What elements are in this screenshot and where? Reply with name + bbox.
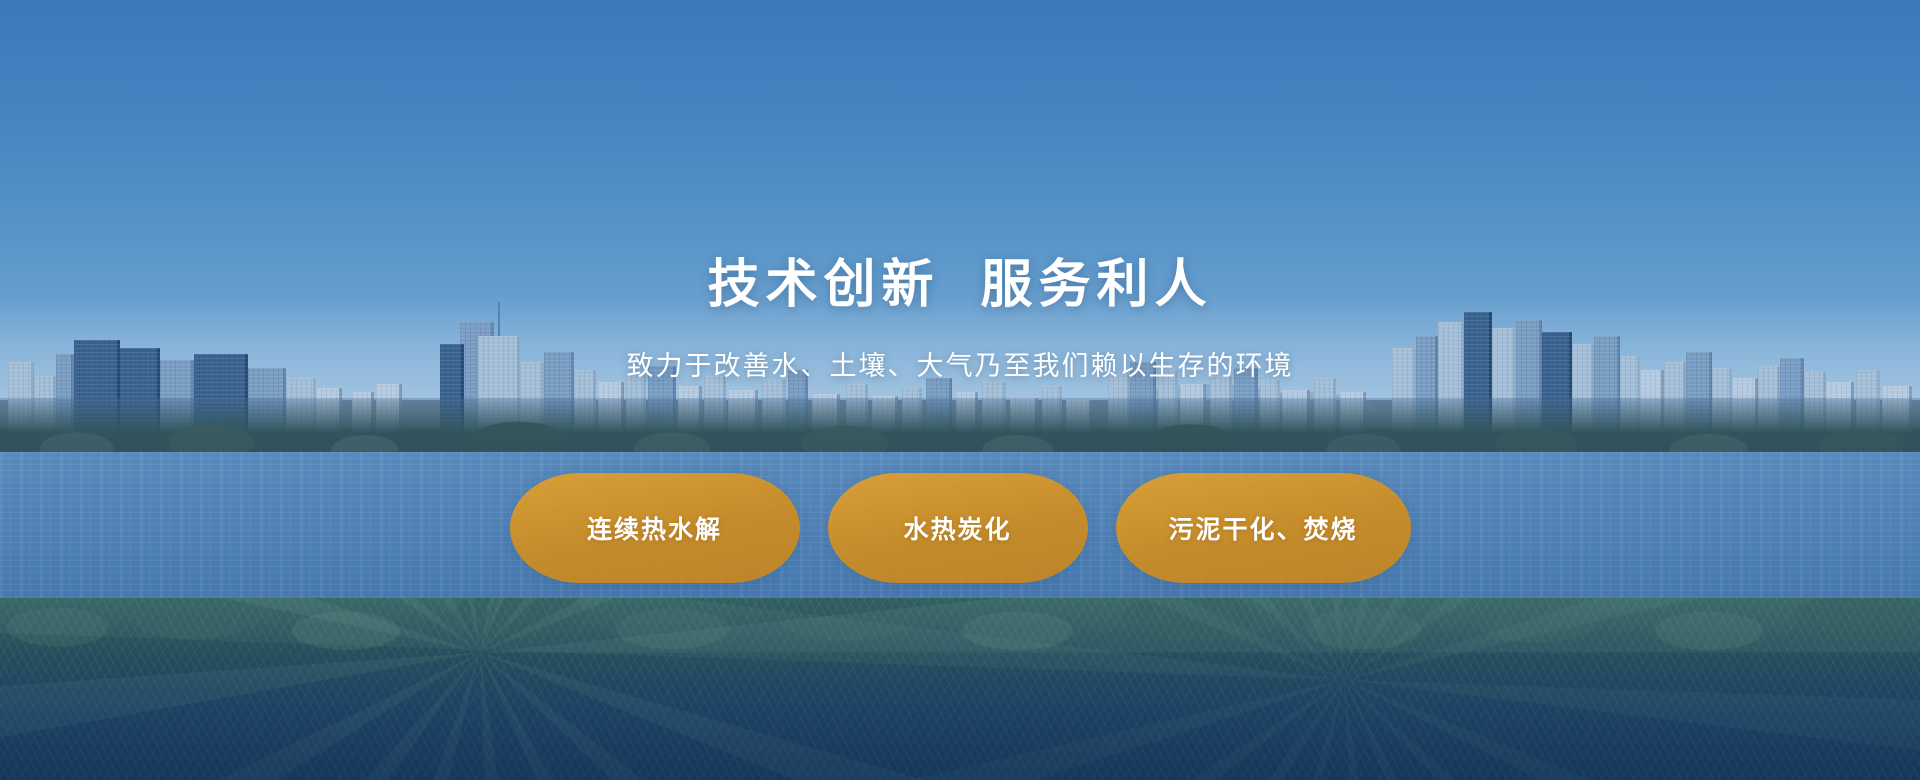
- cta-button-hydrothermal-carbonization[interactable]: 水热炭化: [828, 473, 1088, 583]
- hero-banner: 技术创新 服务利人 致力于改善水、土壤、大气乃至我们赖以生存的环境 连续热水解 …: [0, 0, 1920, 780]
- hero-content: 技术创新 服务利人 致力于改善水、土壤、大气乃至我们赖以生存的环境 连续热水解 …: [0, 0, 1920, 780]
- cta-button-sludge-drying-incineration[interactable]: 污泥干化、焚烧: [1116, 473, 1411, 583]
- page-subtitle: 致力于改善水、土壤、大气乃至我们赖以生存的环境: [0, 344, 1920, 383]
- page-title: 技术创新 服务利人: [0, 256, 1920, 316]
- cta-button-row: 连续热水解 水热炭化 污泥干化、焚烧: [0, 473, 1920, 583]
- cta-button-continuous-thermal-hydrolysis[interactable]: 连续热水解: [510, 473, 800, 583]
